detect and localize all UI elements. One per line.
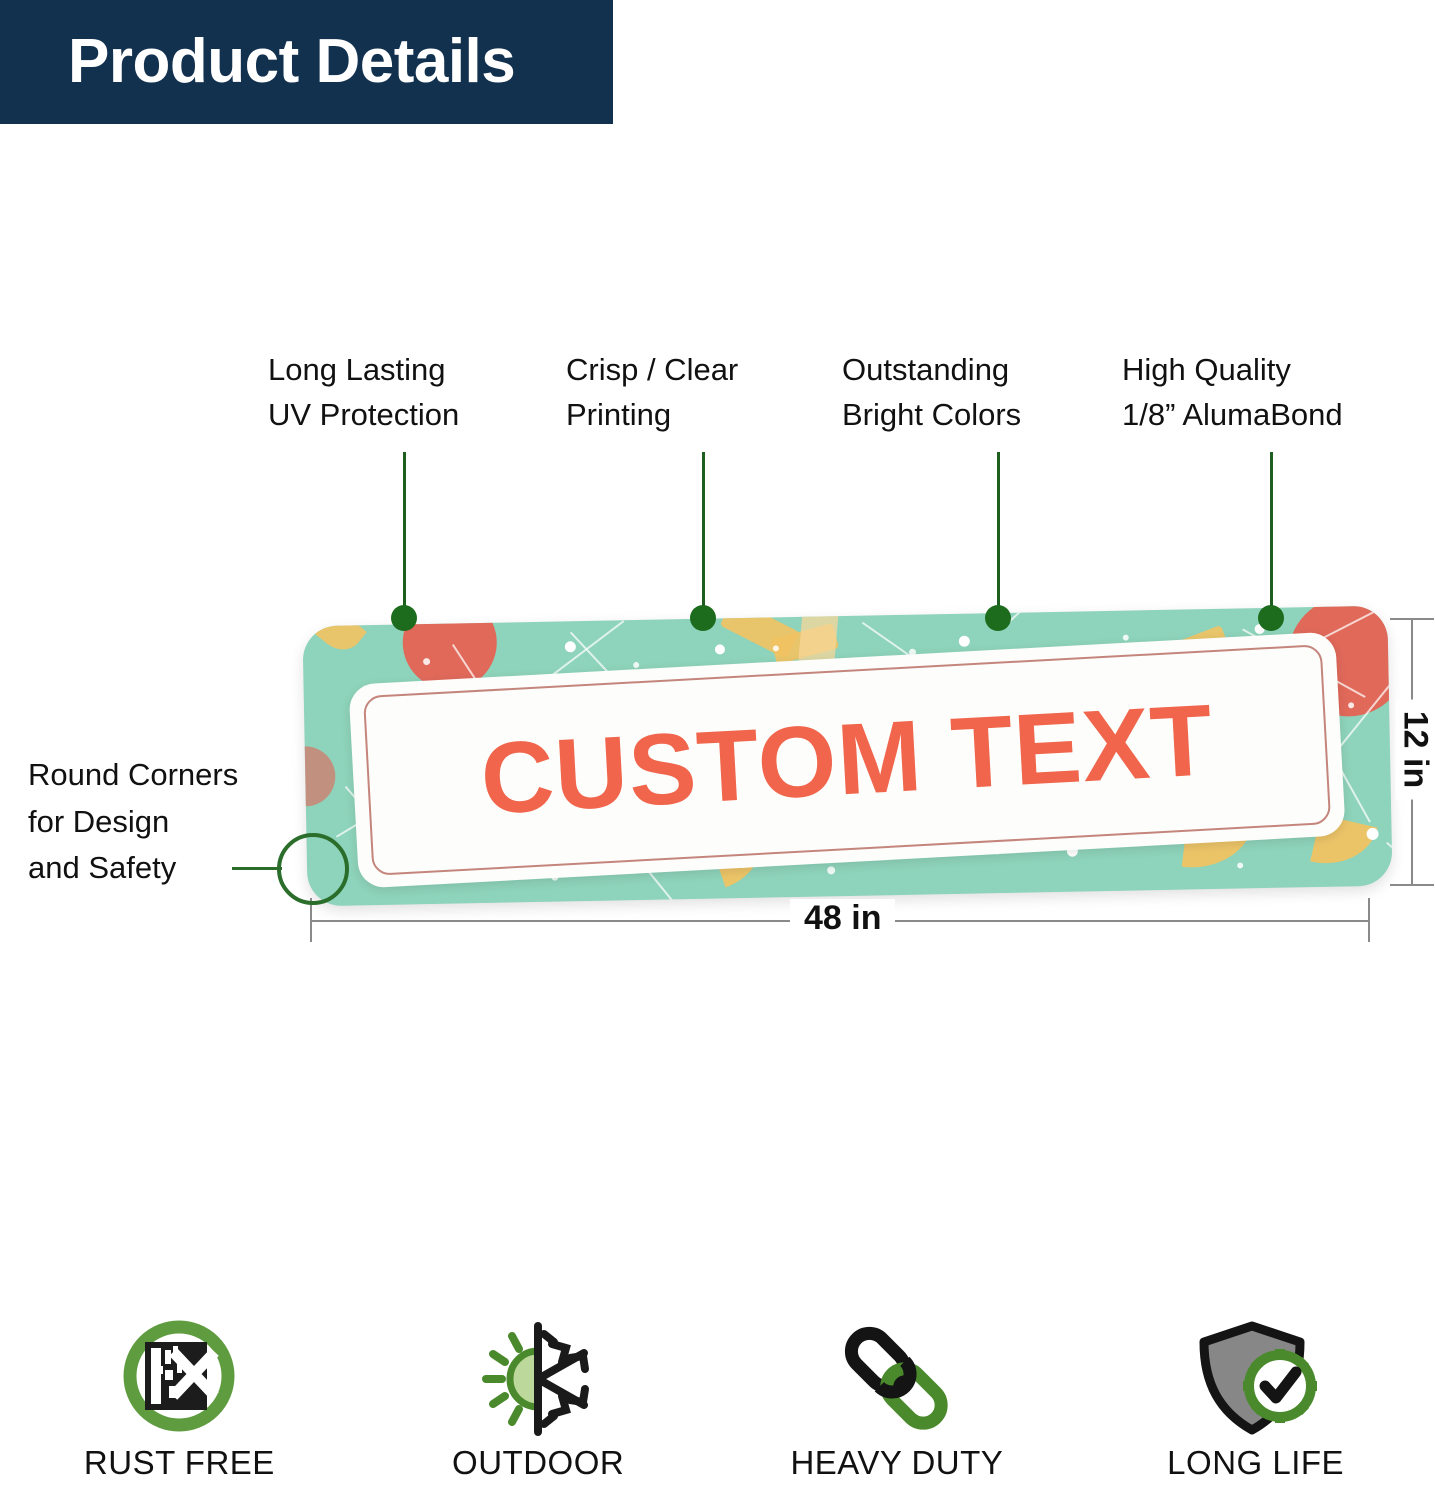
feature-label-long-life: LONG LIFE: [1167, 1444, 1344, 1482]
decor-constellation-line: [1386, 842, 1392, 902]
decor-node: [565, 641, 576, 652]
decor-speck: [1123, 635, 1129, 641]
sign-plate: CUSTOM TEXT: [302, 606, 1392, 907]
callout-label-alumabond: High Quality 1/8” AlumaBond: [1122, 348, 1343, 438]
page-title: Product Details: [0, 31, 515, 93]
dim-width-label: 48 in: [790, 899, 895, 938]
feature-label-heavy-duty: HEAVY DUTY: [790, 1444, 1003, 1482]
callout-label-crisp-printing: Crisp / Clear Printing: [566, 348, 738, 438]
feature-rust-free: RUST FREE: [0, 1320, 359, 1500]
decor-speck: [827, 866, 835, 874]
leader-dot-bright-colors: [985, 605, 1011, 631]
leader-line-bright-colors: [997, 452, 1000, 622]
callout-label-round-corners: Round Corners for Design and Safety: [28, 752, 238, 892]
decor-speck: [1348, 702, 1354, 708]
decor-node: [1366, 828, 1378, 840]
callout-label-bright-colors: Outstanding Bright Colors: [842, 348, 1021, 438]
decor-circle-red: [302, 746, 335, 807]
leader-dot-uv-protection: [391, 605, 417, 631]
rust-free-icon: [114, 1320, 244, 1438]
feature-label-rust-free: RUST FREE: [84, 1444, 275, 1482]
leader-dot-crisp-printing: [690, 605, 716, 631]
header-banner: Product Details: [0, 0, 613, 124]
round-corner-highlight-ring: [277, 833, 349, 905]
leader-line-round-corners: [232, 867, 282, 870]
leader-dot-alumabond: [1258, 605, 1284, 631]
dim-height-tick-bottom: [1390, 884, 1434, 886]
feature-long-life: LONG LIFE: [1076, 1320, 1435, 1500]
feature-icons-row: RUST FREE: [0, 1320, 1435, 1500]
decor-speck: [633, 662, 639, 668]
decor-speck: [773, 645, 779, 651]
heavy-duty-icon: [832, 1320, 962, 1438]
long-life-icon: [1191, 1320, 1321, 1438]
leader-line-crisp-printing: [702, 452, 705, 622]
decor-speck: [423, 658, 430, 665]
decor-node: [715, 644, 725, 654]
feature-label-outdoor: OUTDOOR: [452, 1444, 624, 1482]
decor-gold-shape: [314, 607, 366, 659]
feature-outdoor: OUTDOOR: [359, 1320, 718, 1500]
leader-line-uv-protection: [403, 452, 406, 622]
decor-speck: [1237, 862, 1243, 868]
feature-heavy-duty: HEAVY DUTY: [718, 1320, 1077, 1500]
sign-mockup: CUSTOM TEXT: [305, 608, 1390, 898]
dim-height-label: 12 in: [1396, 700, 1435, 800]
product-details-infographic: Product Details Long Lasting UV Protecti…: [0, 0, 1435, 1500]
decor-constellation-line: [1002, 606, 1091, 629]
leader-line-alumabond: [1270, 452, 1273, 622]
callout-label-uv-protection: Long Lasting UV Protection: [268, 348, 459, 438]
decor-node: [959, 636, 970, 647]
outdoor-icon: [473, 1320, 603, 1438]
